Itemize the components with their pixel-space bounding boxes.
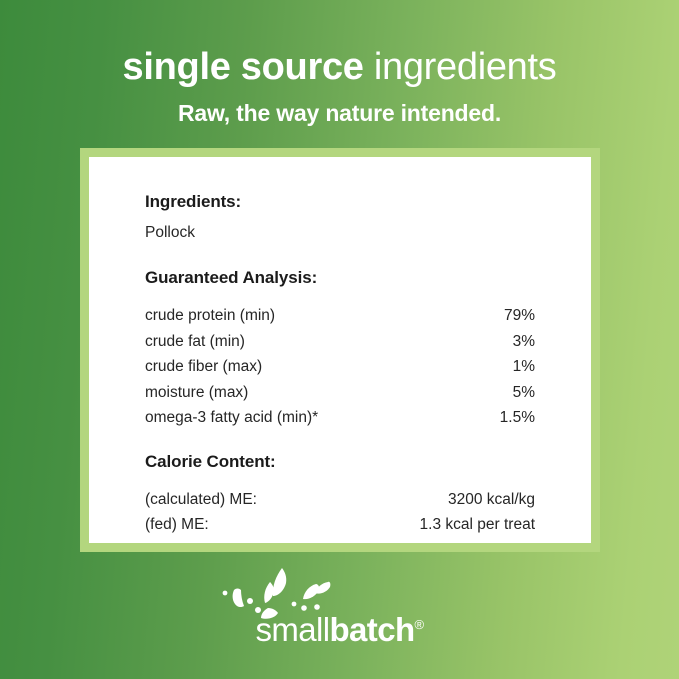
- row-label: (fed) ME:: [145, 512, 209, 537]
- row-value: 79%: [504, 303, 535, 329]
- page-title-light: ingredients: [364, 46, 557, 88]
- table-row: moisture (max) 5%: [145, 380, 535, 406]
- row-value: 1.5%: [500, 405, 535, 431]
- product-info-panel: single source ingredients Raw, the way n…: [0, 0, 679, 679]
- table-row: crude fiber (max) 1%: [145, 354, 535, 380]
- row-value: 3%: [513, 329, 535, 355]
- row-value: 5%: [513, 380, 535, 406]
- brand-logo: smallbatch®: [0, 566, 679, 624]
- guaranteed-analysis-heading: Guaranteed Analysis:: [145, 267, 535, 289]
- table-row: (fed) ME: 1.3 kcal per treat: [145, 512, 535, 537]
- page-title: single source ingredients: [0, 44, 679, 90]
- brand-wordmark: smallbatch®: [0, 607, 679, 648]
- ingredients-value: Pollock: [145, 222, 535, 243]
- table-row: omega-3 fatty acid (min)* 1.5%: [145, 405, 535, 431]
- wordmark-batch: batch: [330, 611, 415, 648]
- row-label: (calculated) ME:: [145, 487, 257, 512]
- row-label: omega-3 fatty acid (min)*: [145, 405, 318, 431]
- table-row: (calculated) ME: 3200 kcal/kg: [145, 487, 535, 512]
- row-label: moisture (max): [145, 380, 248, 406]
- calorie-content-heading: Calorie Content:: [145, 451, 535, 473]
- row-value: 3200 kcal/kg: [448, 487, 535, 512]
- page-title-strong: single source: [123, 46, 364, 88]
- row-value: 1%: [513, 354, 535, 380]
- info-card-content: Ingredients: Pollock Guaranteed Analysis…: [89, 157, 591, 543]
- row-label: crude fat (min): [145, 329, 245, 355]
- info-card: Ingredients: Pollock Guaranteed Analysis…: [80, 148, 600, 552]
- guaranteed-analysis-table: crude protein (min) 79% crude fat (min) …: [145, 303, 535, 431]
- calorie-content-table: (calculated) ME: 3200 kcal/kg (fed) ME: …: [145, 487, 535, 537]
- registered-trademark-icon: ®: [415, 617, 424, 632]
- table-row: crude fat (min) 3%: [145, 329, 535, 355]
- table-row: crude protein (min) 79%: [145, 303, 535, 329]
- row-label: crude protein (min): [145, 303, 275, 329]
- page-subtitle: Raw, the way nature intended.: [0, 98, 679, 128]
- row-label: crude fiber (max): [145, 354, 262, 380]
- header: single source ingredients Raw, the way n…: [0, 44, 679, 128]
- row-value: 1.3 kcal per treat: [420, 512, 535, 537]
- wordmark-small: small: [255, 611, 329, 648]
- ingredients-heading: Ingredients:: [145, 191, 535, 213]
